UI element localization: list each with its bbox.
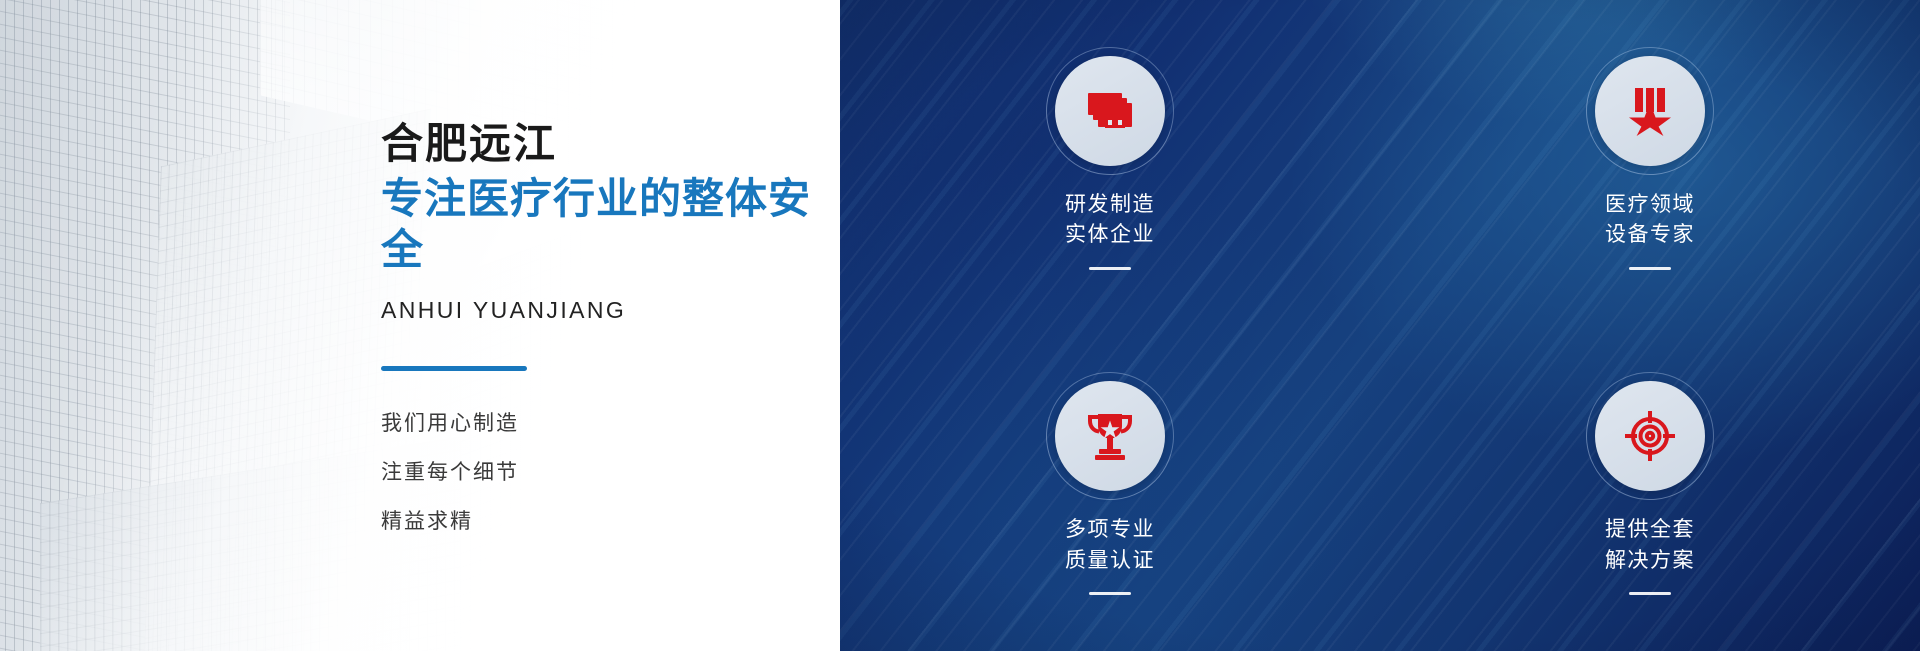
decorative-ring-inner	[1023, 24, 1196, 197]
decorative-ring-inner	[1023, 350, 1196, 523]
feature-label: 医疗领域 设备专家	[1605, 190, 1695, 251]
company-name-pinyin: ANHUI YUANJIANG	[381, 297, 840, 324]
icon-wrapper	[1595, 56, 1705, 166]
feature-underline	[1089, 592, 1131, 595]
company-name-heading: 合肥远江	[381, 119, 840, 169]
feature-item-quality-certification[interactable]: 多项专业 质量认证	[840, 326, 1380, 651]
feature-label: 提供全套 解决方案	[1605, 515, 1695, 576]
decorative-ring-inner	[1563, 24, 1736, 197]
slogan-line: 我们用心制造	[381, 413, 840, 434]
feature-label-line1: 研发制造	[1065, 190, 1155, 220]
feature-label: 多项专业 质量认证	[1065, 515, 1155, 576]
feature-underline	[1629, 592, 1671, 595]
icon-wrapper	[1055, 381, 1165, 491]
slogan-line: 注重每个细节	[381, 462, 840, 483]
hero-text-block: 合肥远江 专注医疗行业的整体安全 ANHUI YUANJIANG 我们用心制造 …	[381, 0, 840, 651]
promo-banner: 合肥远江 专注医疗行业的整体安全 ANHUI YUANJIANG 我们用心制造 …	[0, 0, 1920, 651]
feature-underline	[1629, 267, 1671, 270]
feature-label-line1: 多项专业	[1065, 515, 1155, 545]
right-features-panel: 研发制造 实体企业	[840, 0, 1920, 651]
feature-label-line2: 设备专家	[1605, 220, 1695, 250]
accent-divider	[381, 366, 527, 371]
feature-item-research-manufacturing[interactable]: 研发制造 实体企业	[840, 0, 1380, 326]
left-hero-panel: 合肥远江 专注医疗行业的整体安全 ANHUI YUANJIANG 我们用心制造 …	[0, 0, 840, 651]
decorative-ring-inner	[1563, 350, 1736, 523]
feature-label-line1: 提供全套	[1605, 515, 1695, 545]
slogan-list: 我们用心制造 注重每个细节 精益求精	[381, 413, 840, 532]
feature-label-line2: 解决方案	[1605, 546, 1695, 576]
company-tagline-heading: 专注医疗行业的整体安全	[381, 173, 840, 275]
feature-label-line2: 实体企业	[1065, 220, 1155, 250]
icon-wrapper	[1055, 56, 1165, 166]
icon-wrapper	[1595, 381, 1705, 491]
feature-label-line2: 质量认证	[1065, 546, 1155, 576]
feature-label: 研发制造 实体企业	[1065, 190, 1155, 251]
feature-item-full-solution[interactable]: 提供全套 解决方案	[1380, 326, 1920, 651]
slogan-line: 精益求精	[381, 511, 840, 532]
feature-label-line1: 医疗领域	[1605, 190, 1695, 220]
feature-item-medical-expert[interactable]: 医疗领域 设备专家	[1380, 0, 1920, 326]
feature-grid: 研发制造 实体企业	[840, 0, 1920, 651]
feature-underline	[1089, 267, 1131, 270]
